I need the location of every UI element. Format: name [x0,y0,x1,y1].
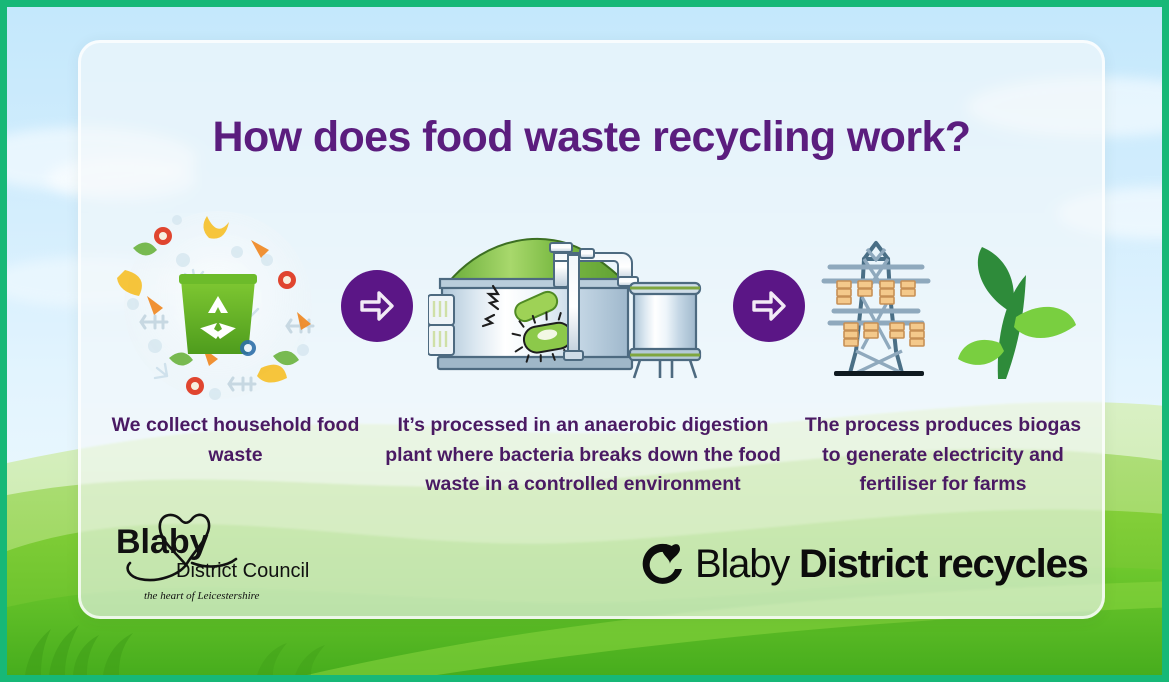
content-card: How does food waste recycling work? [78,40,1105,619]
process-flow-row [111,208,1080,403]
arrow-right-icon [733,270,805,342]
page-title: How does food waste recycling work? [81,114,1102,161]
recycles-word-blaby: Blaby [695,542,789,586]
council-name-primary: Blaby [116,523,209,561]
step-caption-process: It’s processed in an anaerobic digestion… [383,411,783,500]
anaerobic-digestion-plant-icon [428,208,718,403]
recycles-wordmark: Blaby District recycles [695,542,1088,587]
blaby-district-recycles-logo: Blaby District recycles [637,533,1082,595]
step-caption-output: The process produces biogas to generate … [798,411,1088,500]
recycle-heart-icon [637,537,691,591]
arrow-right-icon [341,270,413,342]
recycles-word-district-recycles: District recycles [799,542,1088,586]
council-tagline: the heart of Leicestershire [144,590,259,602]
blaby-district-council-logo: Blaby District Council the heart of Leic… [114,511,339,603]
arrow-1 [335,270,419,342]
council-name-secondary: District Council [176,560,309,582]
infographic-poster: How does food waste recycling work? [0,0,1169,682]
electricity-pylon-and-leaf-icon [820,208,1080,403]
captions-row: We collect household food waste It’s pro… [103,411,1088,500]
arrow-2 [727,270,811,342]
food-waste-bin-icon [111,208,326,403]
step-caption-collect: We collect household food waste [103,411,368,470]
